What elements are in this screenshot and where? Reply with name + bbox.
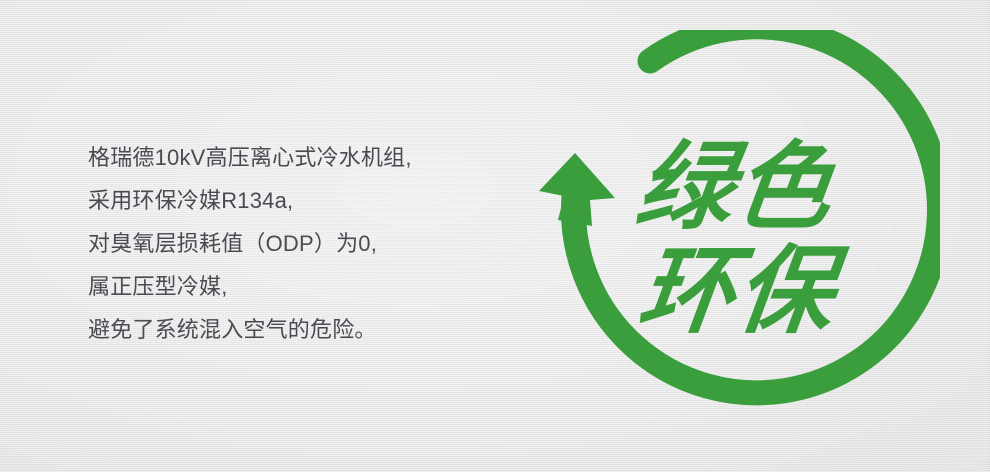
description-line-3: 对臭氧层损耗值（ODP）为0, [88, 222, 508, 265]
description-line-4: 属正压型冷媒, [88, 265, 508, 308]
ring-arc [573, 30, 939, 393]
promo-banner: 格瑞德10kV高压离心式冷水机组, 采用环保冷媒R134a, 对臭氧层损耗值（O… [0, 0, 990, 472]
recycle-circular-arrow-icon [520, 30, 940, 450]
product-description-block: 格瑞德10kV高压离心式冷水机组, 采用环保冷媒R134a, 对臭氧层损耗值（O… [88, 136, 508, 351]
description-line-5: 避免了系统混入空气的危险。 [88, 308, 508, 351]
description-line-1: 格瑞德10kV高压离心式冷水机组, [88, 136, 508, 179]
eco-friendly-badge: 绿色 环保 [520, 30, 940, 450]
arrow-head [539, 153, 615, 226]
description-line-2: 采用环保冷媒R134a, [88, 179, 508, 222]
